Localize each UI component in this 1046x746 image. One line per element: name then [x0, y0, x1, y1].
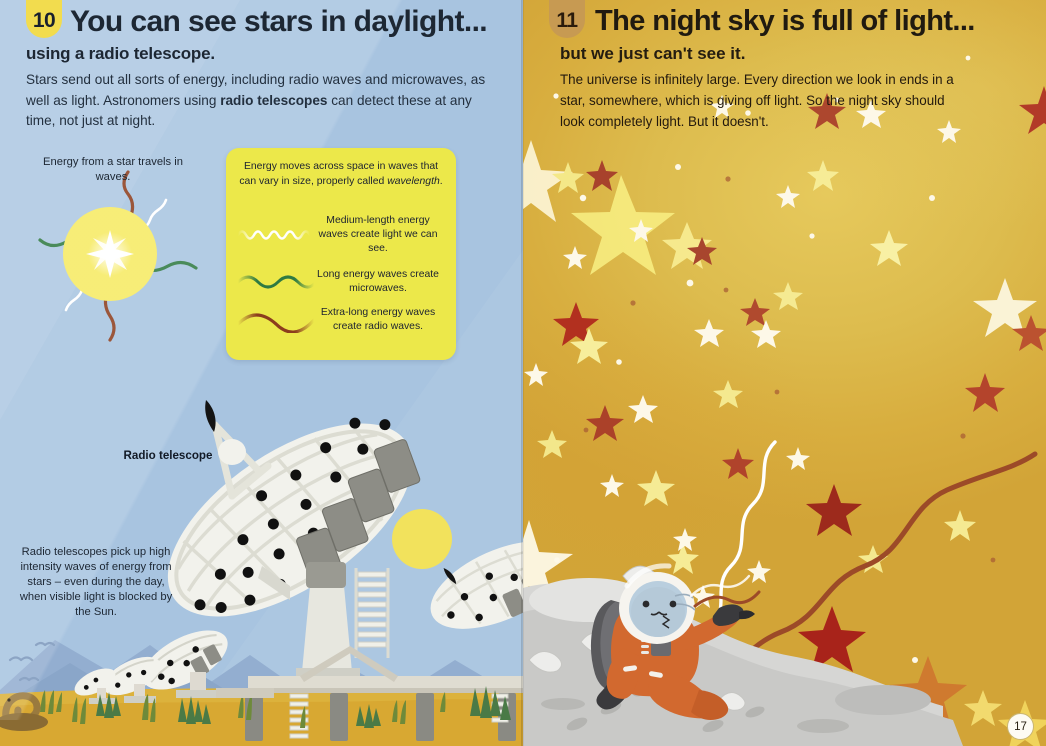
right-body-text: The universe is infinitely large. Every …	[560, 70, 960, 132]
left-headline: You can see stars in daylight...	[70, 5, 487, 39]
left-page: 10 You can see stars in daylight... usin…	[0, 0, 523, 746]
label-radio-telescope: Radio telescope	[118, 448, 218, 463]
note-radio-telescopes: Radio telescopes pick up high intensity …	[16, 545, 176, 621]
sun-small	[392, 509, 452, 569]
astronaut-glove	[713, 604, 744, 626]
left-number-badge: 10	[26, 0, 62, 38]
energy-waves-card: Energy moves across space in waves that …	[226, 148, 456, 360]
green-medium-wave-icon	[236, 269, 316, 295]
feed-horn	[205, 400, 215, 432]
book-spread: 10 You can see stars in daylight... usin…	[0, 0, 1046, 746]
right-subhead: but we just can't see it.	[560, 44, 745, 64]
page-number: 17	[1007, 713, 1034, 740]
card-row-long: Long energy waves create microwaves.	[236, 268, 440, 296]
card-row-long-text: Long energy waves create microwaves.	[316, 268, 440, 296]
note-energy-from-star: Energy from a star travels in waves.	[28, 155, 198, 185]
moon-surface	[523, 566, 963, 746]
brown-long-wave-icon	[236, 307, 316, 333]
card-row-medium: Medium-length energy waves create light …	[236, 214, 440, 256]
left-subhead: using a radio telescope.	[26, 44, 215, 64]
white-squiggle-wave-icon	[236, 222, 316, 248]
left-body-bold: radio telescopes	[220, 93, 327, 108]
left-body-text: Stars send out all sorts of energy, incl…	[26, 70, 496, 132]
right-number-badge: 11	[549, 0, 585, 38]
card-title-part2: .	[440, 176, 443, 187]
card-row-extra-long: Extra-long energy waves create radio wav…	[236, 306, 440, 334]
book-gutter	[521, 0, 524, 746]
card-row-medium-text: Medium-length energy waves create light …	[316, 214, 440, 256]
card-title: Energy moves across space in waves that …	[238, 160, 444, 190]
card-row-extra-long-text: Extra-long energy waves create radio wav…	[316, 306, 440, 334]
right-headline: The night sky is full of light...	[595, 5, 975, 38]
card-title-italic: wavelength	[387, 176, 440, 187]
right-page: 11 The night sky is full of light... but…	[523, 0, 1046, 746]
